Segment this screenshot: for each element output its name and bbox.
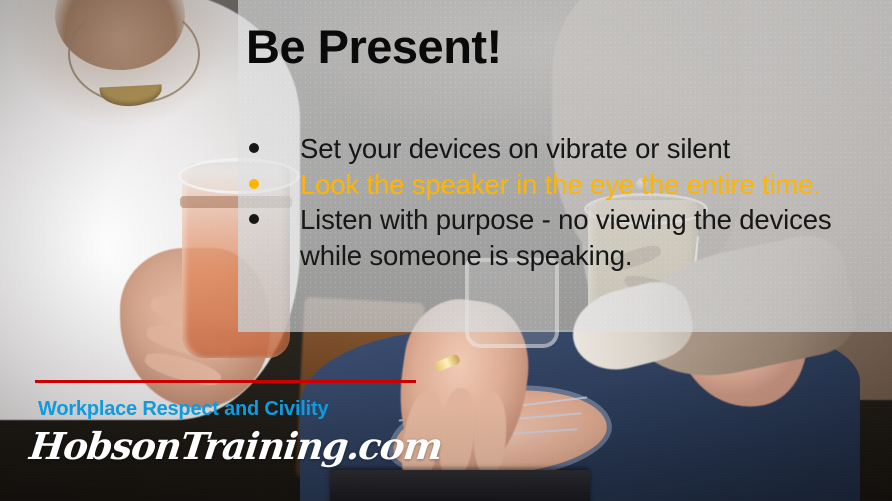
bullet-dot-icon [249, 143, 259, 153]
footer-logo-wordmark: HobsonTraining.com [27, 424, 444, 468]
bullet-item-1: Set your devices on vibrate or silent [243, 131, 843, 167]
bullet-item-1-text: Set your devices on vibrate or silent [300, 131, 843, 167]
bullet-dot-icon [249, 214, 259, 224]
bullet-dot-icon [249, 179, 259, 189]
bullet-item-2: Look the speaker in the eye the entire t… [243, 167, 843, 203]
footer-divider-rule [35, 380, 416, 383]
slide-canvas: Be Present! Set your devices on vibrate … [0, 0, 892, 501]
bullet-list: Set your devices on vibrate or silent Lo… [243, 131, 843, 273]
slide-title: Be Present! [246, 22, 502, 73]
bullet-item-3-text: Listen with purpose - no viewing the dev… [300, 202, 843, 273]
bullet-item-2-text: Look the speaker in the eye the entire t… [300, 167, 843, 203]
bullet-item-3: Listen with purpose - no viewing the dev… [243, 202, 843, 273]
footer-tagline: Workplace Respect and Civility [38, 398, 328, 421]
